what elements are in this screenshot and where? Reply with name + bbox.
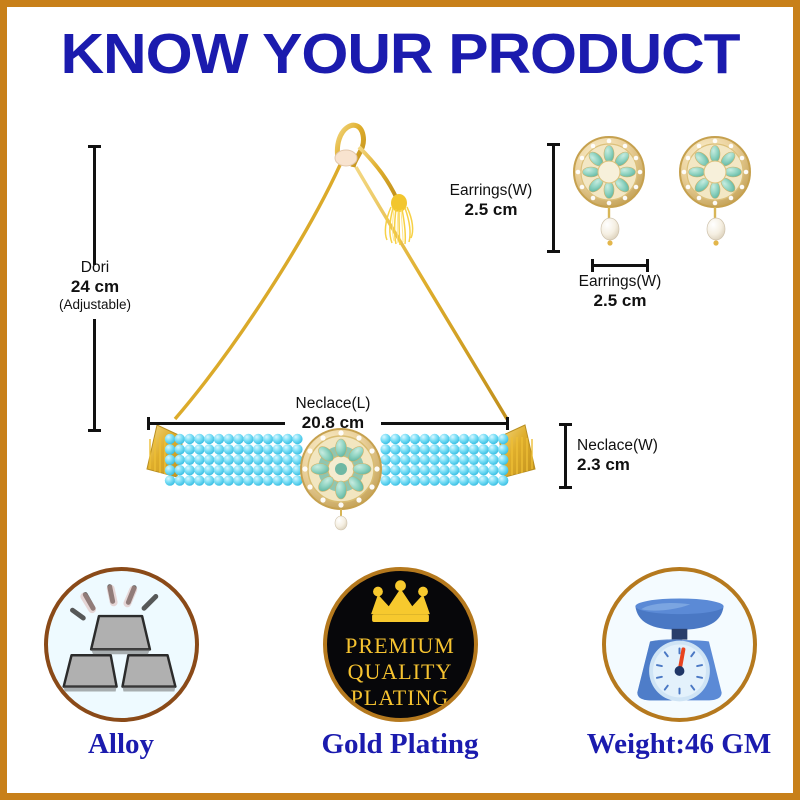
badge-weight: Weight:46 GM [579, 567, 779, 761]
necklace-bead-rows [165, 434, 509, 486]
weighing-scale-icon [606, 571, 753, 718]
dori-artwork [175, 125, 507, 419]
earrings-w-v-value: 2.5 cm [437, 200, 545, 220]
weight-caption: Weight:46 GM [579, 728, 779, 761]
weight-icon-circle [602, 567, 757, 722]
necklace-width-value: 2.3 cm [577, 455, 697, 475]
necklace-width-label: Neclace(W) [577, 437, 697, 455]
necklace-length-value: 20.8 cm [273, 413, 393, 433]
seal-line-3: PLATING [327, 685, 474, 711]
infographic-page: KNOW YOUR PRODUCT [0, 0, 800, 800]
dori-label: Dori [25, 259, 165, 277]
gold-plating-seal: PREMIUM QUALITY PLATING [323, 567, 478, 722]
seal-line-2: QUALITY [327, 659, 474, 685]
page-title: KNOW YOUR PRODUCT [0, 21, 800, 87]
seal-line-1: PREMIUM [327, 633, 474, 659]
earrings-w-h-label: Earrings(W) [565, 273, 675, 291]
metal-ingots-icon [48, 571, 195, 718]
earring-left [574, 137, 644, 246]
necklace-length-label: Neclace(L) [273, 395, 393, 413]
alloy-icon-circle [44, 567, 199, 722]
earring-right [680, 137, 750, 246]
earrings-w-v-label: Earrings(W) [437, 182, 545, 200]
badge-gold-plating: PREMIUM QUALITY PLATING Gold Plating [300, 567, 500, 761]
dori-value: 24 cm [25, 277, 165, 297]
dori-note: (Adjustable) [25, 297, 165, 313]
earrings-w-h-value: 2.5 cm [565, 291, 675, 311]
badge-alloy: Alloy [21, 567, 221, 761]
gold-plating-caption: Gold Plating [300, 728, 500, 761]
necklace-pendant [301, 429, 381, 530]
alloy-caption: Alloy [21, 728, 221, 761]
